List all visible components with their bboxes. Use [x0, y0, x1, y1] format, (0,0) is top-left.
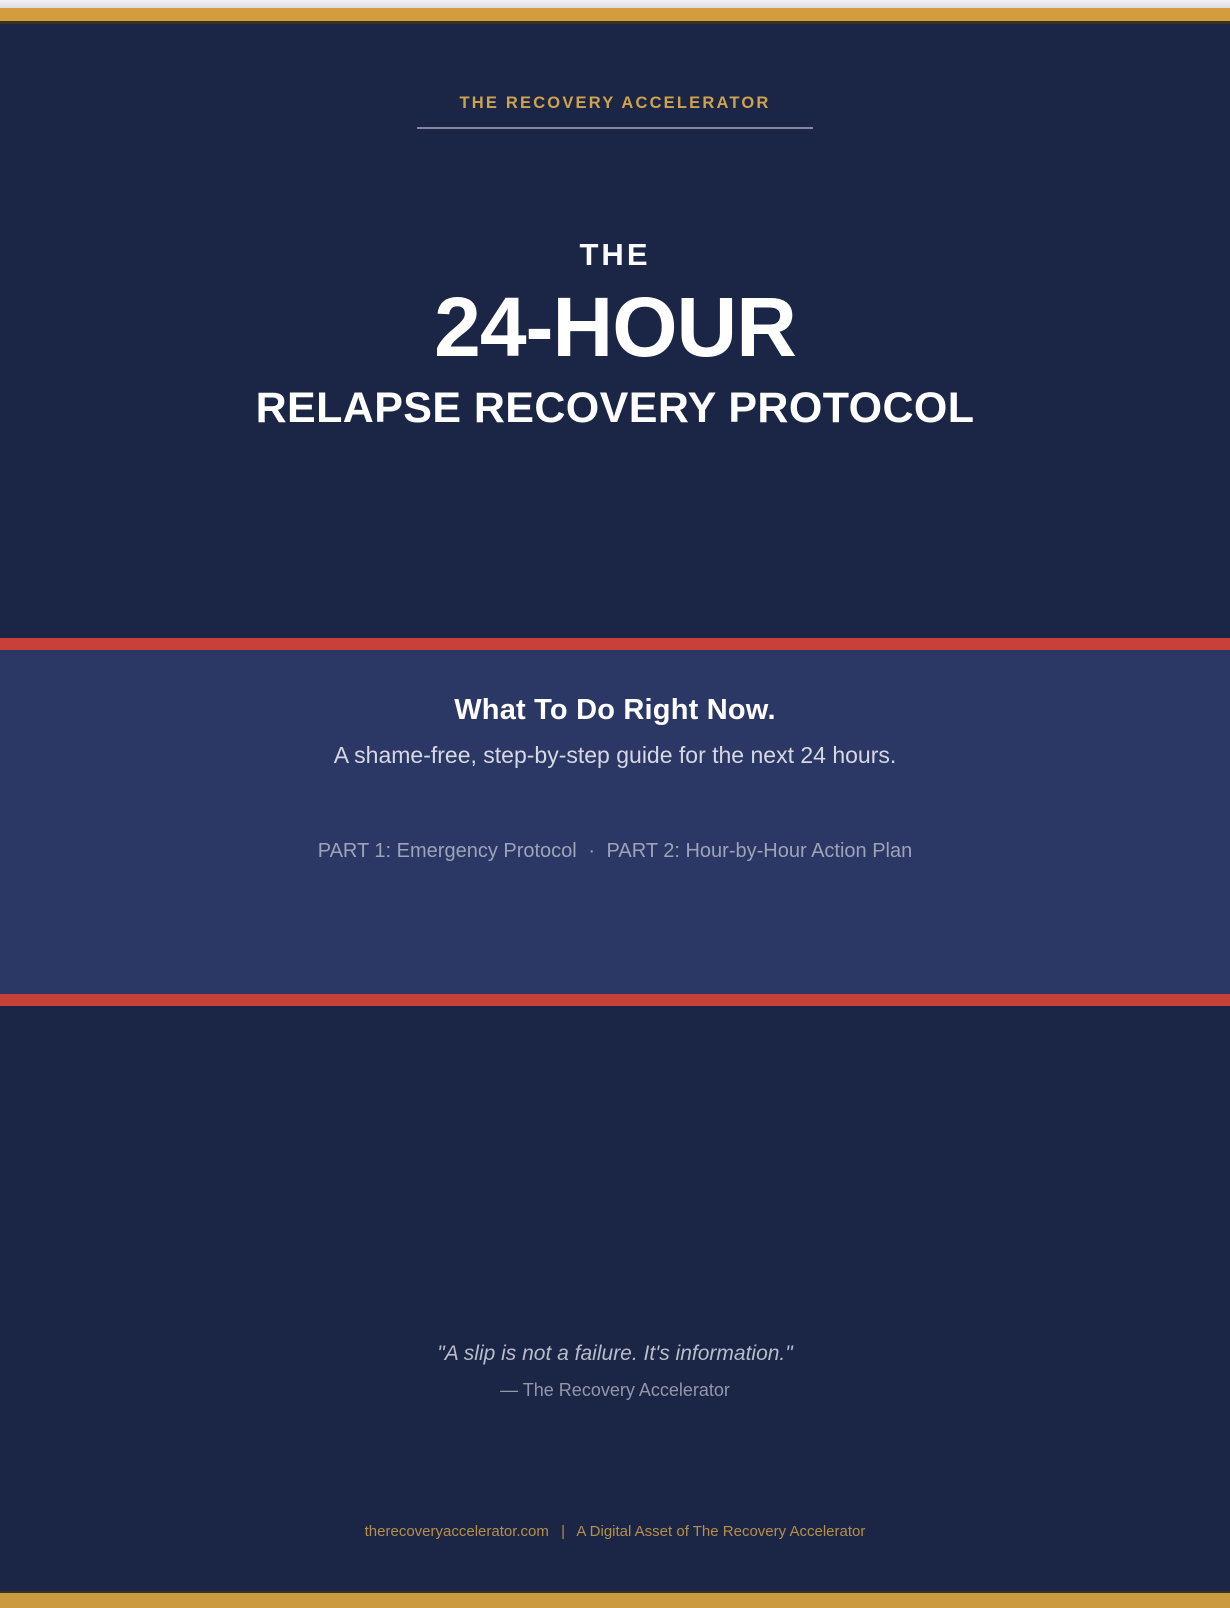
footer-website: therecoveryaccelerator.com	[365, 1523, 549, 1540]
cover-sheet: THE RECOVERY ACCELERATOR THE 24-HOUR REL…	[0, 24, 1230, 1593]
document-cover-page: THE RECOVERY ACCELERATOR THE 24-HOUR REL…	[0, 0, 1230, 1608]
pull-quote: "A slip is not a failure. It's informati…	[0, 1342, 1230, 1366]
band-part-one: PART 1: Emergency Protocol	[318, 840, 577, 862]
eyebrow-divider-rule	[417, 127, 813, 129]
top-gold-accent-bar	[0, 8, 1230, 24]
title-prefix: THE	[0, 237, 1230, 273]
footer-separator: |	[553, 1523, 573, 1540]
page-title: 24-HOUR	[0, 284, 1230, 370]
band-parts-separator: ·	[582, 840, 601, 862]
hero-section: THE RECOVERY ACCELERATOR THE 24-HOUR REL…	[0, 24, 1230, 638]
footer-tagline: A Digital Asset of The Recovery Accelera…	[576, 1523, 865, 1540]
highlight-band: What To Do Right Now. A shame-free, step…	[0, 638, 1230, 1006]
band-parts-list: PART 1: Emergency Protocol · PART 2: Hou…	[0, 840, 1230, 863]
lower-section: "A slip is not a failure. It's informati…	[0, 1006, 1230, 1593]
band-subheadline: A shame-free, step-by-step guide for the…	[0, 742, 1230, 769]
brand-eyebrow: THE RECOVERY ACCELERATOR	[0, 94, 1230, 113]
page-subtitle: RELAPSE RECOVERY PROTOCOL	[0, 384, 1230, 432]
band-headline: What To Do Right Now.	[0, 694, 1230, 727]
pull-quote-attribution: — The Recovery Accelerator	[0, 1380, 1230, 1401]
band-part-two: PART 2: Hour-by-Hour Action Plan	[607, 840, 913, 862]
bottom-gold-accent-bar	[0, 1591, 1230, 1608]
page-top-margin	[0, 0, 1230, 8]
page-footer: therecoveryaccelerator.com | A Digital A…	[0, 1523, 1230, 1540]
